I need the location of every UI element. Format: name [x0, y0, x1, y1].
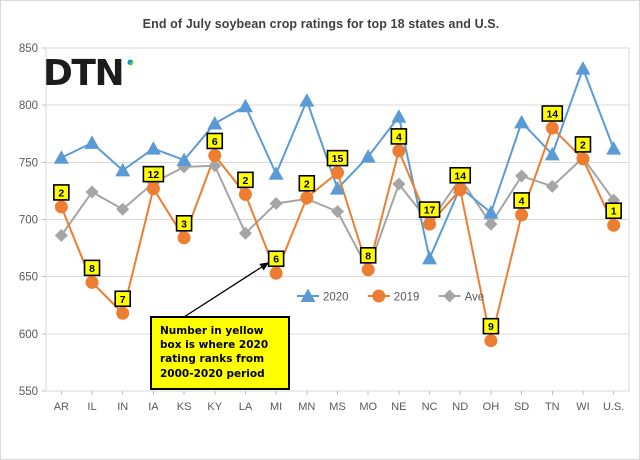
rank-badge-value: 12 — [148, 169, 160, 181]
y-axis-tick-label: 800 — [19, 100, 38, 112]
datapoint-2019-OH — [484, 334, 497, 347]
rank-badge-value: 1 — [611, 206, 617, 218]
rank-badge-SD: 4 — [514, 193, 529, 208]
datapoint-2019-MS — [331, 166, 344, 179]
rank-badge-TN: 14 — [542, 106, 562, 121]
logo-wordmark: DTN — [43, 53, 123, 94]
y-axis-tick-label: 550 — [19, 386, 38, 398]
datapoint-2019-MO — [362, 263, 375, 276]
x-axis-tick-label-NE: NE — [391, 401, 406, 413]
chart-legend: 20202019Ave — [297, 289, 484, 304]
rank-badge-value: 8 — [365, 250, 371, 262]
datapoint-2019-KS — [178, 231, 191, 244]
dtn-logo: DTN — [43, 56, 137, 92]
x-axis-tick-label-ND: ND — [452, 401, 468, 413]
rank-badge-value: 2 — [580, 139, 586, 151]
datapoint-2020-SD — [514, 115, 529, 129]
rank-badge-value: 2 — [58, 187, 64, 199]
datapoint-2019-AR — [55, 200, 68, 213]
x-axis-tick-label-KY: KY — [207, 401, 222, 413]
datapoint-2020-MI — [269, 166, 284, 180]
x-axis-tick-label-NC: NC — [422, 401, 438, 413]
datapoint-2020-US — [606, 141, 621, 155]
logo-circle-icon — [124, 56, 137, 69]
annotation-arrow — [184, 262, 269, 317]
rank-badge-LA: 2 — [238, 172, 253, 187]
x-axis-tick-label-KS: KS — [177, 401, 192, 413]
x-axis-tick-label-TN: TN — [545, 401, 560, 413]
datapoint-2019-MI — [270, 267, 283, 280]
x-axis-tick-label-US: U.S. — [603, 401, 624, 413]
x-axis-tick-label-IN: IN — [117, 401, 128, 413]
datapoint-2020-NE — [391, 109, 406, 123]
datapoint-2019-NC — [423, 218, 436, 231]
rank-badge-WI: 2 — [575, 137, 590, 152]
x-axis-tick-label-MO: MO — [359, 401, 377, 413]
datapoint-2019-IL — [86, 276, 99, 289]
datapoint-ave-MS — [331, 205, 344, 218]
rank-badge-value: 2 — [243, 175, 249, 187]
rank-badge-value: 4 — [519, 195, 525, 207]
rank-badge-MO: 8 — [361, 248, 376, 263]
rank-badge-ND: 14 — [450, 168, 470, 183]
rank-badge-value: 2 — [304, 178, 310, 190]
datapoint-2019-KY — [208, 149, 221, 162]
datapoint-2020-WI — [575, 61, 590, 75]
x-axis-tick-label-OH: OH — [483, 401, 500, 413]
x-axis-tick-label-LA: LA — [239, 401, 253, 413]
x-axis-tick-label-SD: SD — [514, 401, 529, 413]
datapoint-ave-SD — [515, 170, 528, 183]
legend-marker-2019 — [372, 290, 385, 303]
datapoint-ave-AR — [55, 229, 68, 242]
x-axis-tick-label-MS: MS — [329, 401, 346, 413]
datapoint-2020-IL — [85, 135, 100, 149]
datapoint-2019-US — [607, 219, 620, 232]
rank-badge-NC: 17 — [420, 202, 440, 217]
annotation-callout: Number in yellow box is where 2020 ratin… — [150, 316, 290, 390]
x-axis-tick-label-AR: AR — [54, 401, 69, 413]
y-axis-tick-label: 700 — [19, 215, 38, 227]
rank-badge-IN: 7 — [115, 291, 130, 306]
datapoint-2019-MN — [300, 191, 313, 204]
x-axis-tick-label-IA: IA — [148, 401, 159, 413]
rank-badge-KY: 6 — [207, 133, 222, 148]
rank-badge-value: 8 — [89, 263, 95, 275]
datapoint-2019-NE — [392, 144, 405, 157]
datapoint-2019-IN — [116, 307, 129, 320]
datapoint-2019-ND — [454, 183, 467, 196]
rank-badge-value: 7 — [120, 294, 126, 306]
y-axis-tick-label: 850 — [19, 43, 38, 55]
rank-badge-MS: 15 — [328, 151, 348, 166]
x-axis-tick-label-WI: WI — [576, 401, 589, 413]
datapoint-2019-WI — [576, 152, 589, 165]
rank-badge-value: 17 — [424, 205, 436, 217]
rank-badge-value: 15 — [332, 153, 344, 165]
datapoint-2019-SD — [515, 208, 528, 221]
rank-badge-IL: 8 — [85, 260, 100, 275]
datapoint-2019-LA — [239, 188, 252, 201]
y-axis-tick-label: 650 — [19, 272, 38, 284]
rank-badge-AR: 2 — [54, 185, 69, 200]
datapoint-2020-AR — [54, 150, 69, 164]
x-axis-tick-label-MI: MI — [270, 401, 282, 413]
datapoint-2019-IA — [147, 182, 160, 195]
rank-badge-KS: 3 — [177, 216, 192, 231]
rank-badge-IA: 12 — [143, 167, 163, 182]
rank-badge-value: 6 — [273, 254, 279, 266]
datapoint-2019-TN — [546, 122, 559, 135]
datapoint-ave-IL — [86, 186, 99, 199]
datapoint-2020-MN — [299, 93, 314, 107]
rank-badge-NE: 4 — [391, 129, 406, 144]
rank-badge-value: 14 — [546, 109, 558, 121]
datapoint-2020-NC — [422, 251, 437, 264]
rank-badge-value: 14 — [454, 170, 466, 182]
datapoint-2020-KY — [207, 116, 222, 130]
chart-screenshot: End of July soybean crop ratings for top… — [0, 0, 640, 460]
y-axis-tick-label: 750 — [19, 157, 38, 169]
rank-badge-US: 1 — [606, 203, 621, 218]
rank-badge-MN: 2 — [299, 176, 314, 191]
legend-label-ave: Ave — [465, 292, 485, 304]
legend-label-2020: 2020 — [323, 292, 349, 304]
rank-badge-OH: 9 — [483, 319, 498, 334]
x-axis-tick-label-MN: MN — [298, 401, 315, 413]
rank-badge-value: 4 — [396, 131, 402, 143]
rank-badge-value: 6 — [212, 136, 218, 148]
x-axis-tick-label-IL: IL — [87, 401, 96, 413]
y-axis-tick-label: 600 — [19, 329, 38, 341]
legend-label-2019: 2019 — [394, 292, 420, 304]
legend-marker-ave — [443, 290, 456, 303]
rank-badge-MI: 6 — [269, 251, 284, 266]
rank-badge-value: 3 — [181, 218, 187, 230]
datapoint-2020-IA — [146, 141, 161, 155]
rank-badge-value: 9 — [488, 321, 494, 333]
